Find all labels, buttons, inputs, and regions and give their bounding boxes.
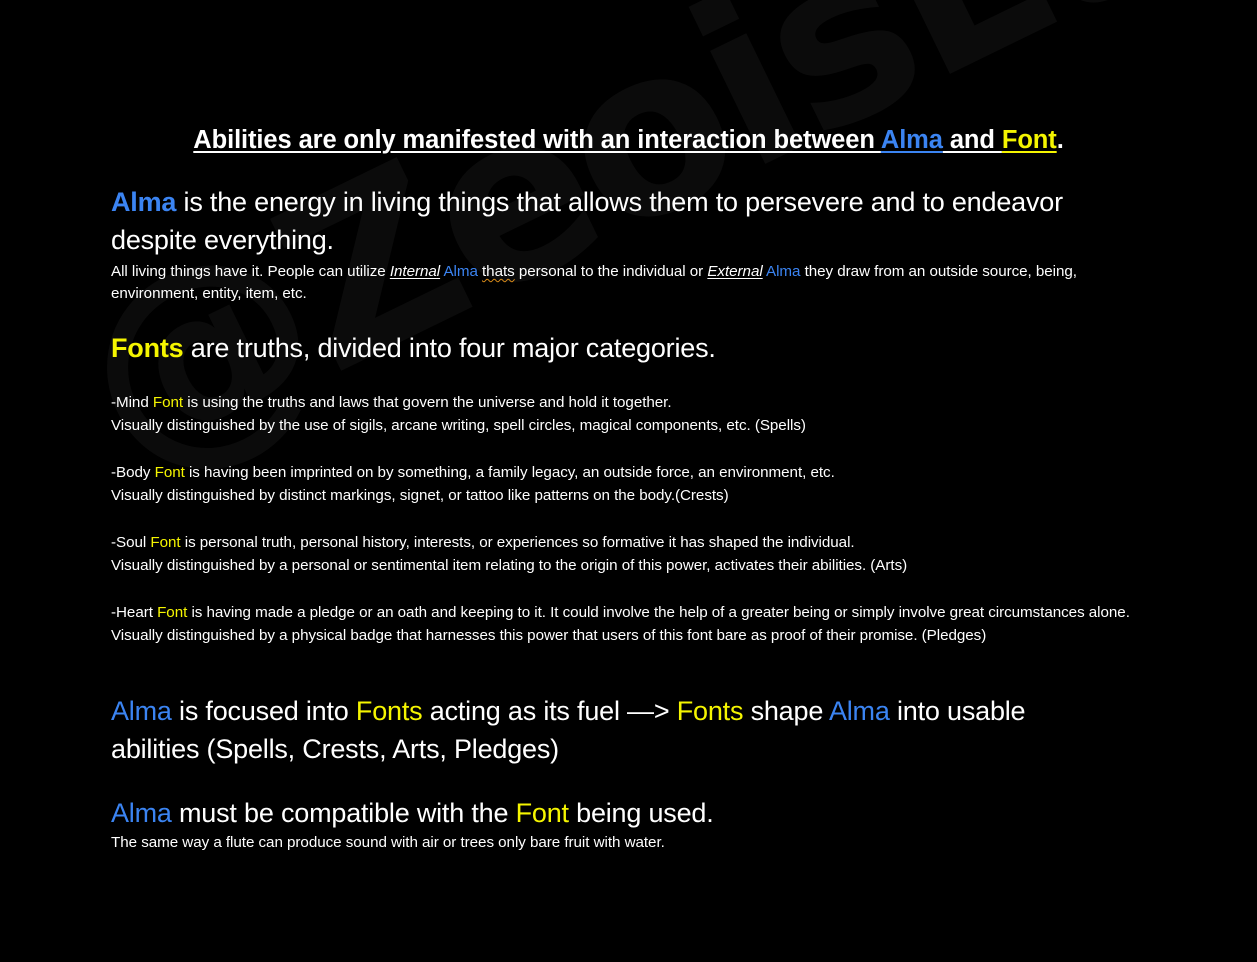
font-category-soul-line2: Visually distinguished by a personal or …: [111, 554, 1146, 577]
alma-detail-seg-1: All living things have it. People can ut…: [111, 263, 390, 280]
alma-font-equation: Alma is focused into Fonts acting as its…: [111, 692, 1111, 769]
font-category-soul-line1: -Soul Font is personal truth, personal h…: [111, 531, 1146, 554]
font-category-mind-desc: is using the truths and laws that govern…: [183, 394, 671, 411]
font-category-soul-desc: is personal truth, personal history, int…: [181, 534, 855, 551]
font-category-mind-prefix: -Mind: [111, 394, 153, 411]
font-category-heart: -Heart Font is having made a pledge or a…: [111, 601, 1141, 647]
compatibility-heading: Alma must be compatible with the Font be…: [111, 794, 1111, 832]
page-title: Abilities are only manifested with an in…: [0, 125, 1257, 157]
fonts-heading: Fonts are truths, divided into four majo…: [111, 329, 716, 367]
font-category-body-line1: -Body Font is having been imprinted on b…: [111, 461, 1146, 484]
equation-alma-1: Alma: [111, 696, 172, 726]
spellcheck-flagged-word: thats: [482, 263, 515, 280]
font-category-body-line2: Visually distinguished by distinct marki…: [111, 484, 1146, 507]
alma-inline-2: Alma: [766, 263, 800, 280]
font-category-mind-line2: Visually distinguished by the use of sig…: [111, 414, 1146, 437]
compatibility-detail: The same way a flute can produce sound w…: [111, 832, 1111, 854]
font-keyword-heart: Font: [157, 604, 187, 621]
alma-detail-seg-4: personal to the individual or: [515, 263, 708, 280]
internal-emphasis: Internal: [390, 263, 440, 280]
alma-heading: Alma is the energy in living things that…: [111, 183, 1151, 260]
compat-font: Font: [516, 798, 569, 828]
compat-seg-1: must be compatible with the: [172, 798, 516, 828]
equation-seg-2: acting as its fuel —>: [422, 696, 676, 726]
font-keyword-soul: Font: [150, 534, 180, 551]
equation-fonts-2: Fonts: [677, 696, 744, 726]
external-emphasis: External: [707, 263, 762, 280]
page-title-alma: Alma: [881, 126, 943, 154]
fonts-heading-text: are truths, divided into four major cate…: [184, 333, 716, 363]
font-category-body: -Body Font is having been imprinted on b…: [111, 461, 1146, 507]
equation-alma-2: Alma: [829, 696, 890, 726]
compat-alma: Alma: [111, 798, 172, 828]
alma-inline-1: Alma: [443, 263, 477, 280]
font-category-heart-prefix: -Heart: [111, 604, 157, 621]
font-category-heart-line1: -Heart Font is having made a pledge or a…: [111, 601, 1141, 647]
alma-keyword: Alma: [111, 187, 176, 217]
fonts-keyword: Fonts: [111, 333, 184, 363]
compat-seg-2: being used.: [569, 798, 714, 828]
font-category-soul-prefix: -Soul: [111, 534, 150, 551]
font-category-mind-line1: -Mind Font is using the truths and laws …: [111, 391, 1146, 414]
font-category-soul: -Soul Font is personal truth, personal h…: [111, 531, 1146, 577]
font-category-body-prefix: -Body: [111, 464, 155, 481]
font-category-heart-desc: is having made a pledge or an oath and k…: [111, 604, 1130, 644]
alma-heading-text: is the energy in living things that allo…: [111, 187, 1063, 255]
font-category-mind: -Mind Font is using the truths and laws …: [111, 391, 1146, 437]
font-keyword-mind: Font: [153, 394, 183, 411]
page-title-font: Font: [1002, 126, 1057, 154]
equation-seg-3: shape: [743, 696, 829, 726]
equation-fonts-1: Fonts: [356, 696, 423, 726]
equation-seg-1: is focused into: [172, 696, 356, 726]
font-category-body-desc: is having been imprinted on by something…: [185, 464, 835, 481]
alma-detail-paragraph: All living things have it. People can ut…: [111, 261, 1136, 305]
page-title-period: .: [1057, 126, 1064, 154]
page-title-segment-2: and: [943, 126, 1002, 154]
font-keyword-body: Font: [155, 464, 185, 481]
page-title-segment-1: Abilities are only manifested with an in…: [193, 126, 881, 154]
